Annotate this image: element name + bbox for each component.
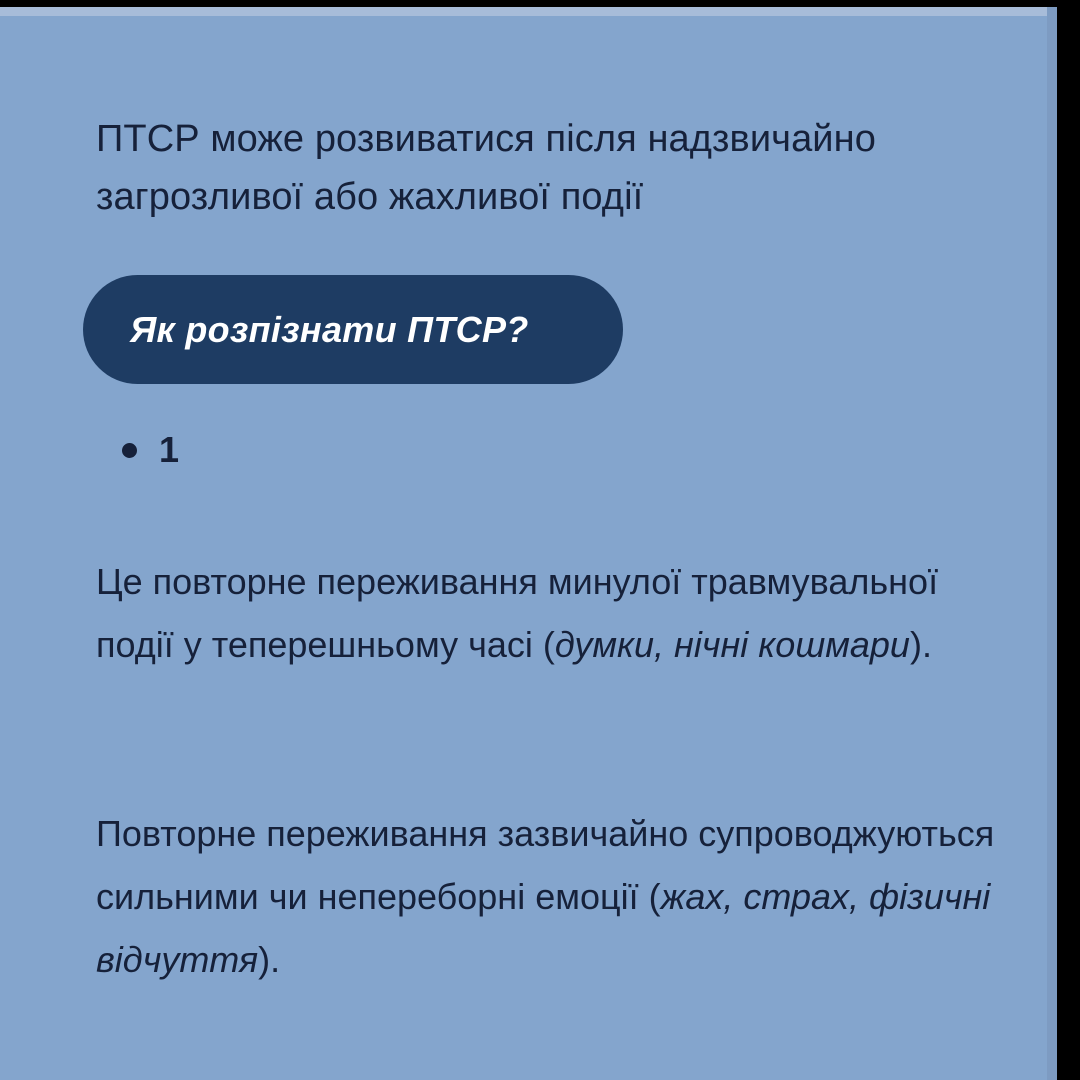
paragraph-1-tail: ). xyxy=(910,624,932,665)
top-letterbox-bar xyxy=(0,0,1080,7)
body-paragraph-2: Повторне переживання зазвичайно супровод… xyxy=(96,813,994,980)
right-scan-band xyxy=(1047,0,1057,1080)
body-paragraph-1: Це повторне переживання минулої травмува… xyxy=(96,561,938,665)
slide-content: ПТСР може розвиватися після надзвичайно … xyxy=(0,0,1047,1080)
list-item-number: 1 xyxy=(159,432,179,468)
body-copy: Це повторне переживання минулої травмува… xyxy=(96,487,996,991)
bullet-dot-icon xyxy=(122,443,137,458)
section-heading-pill[interactable]: Як розпізнати ПТСР? xyxy=(83,275,623,384)
right-letterbox-bar xyxy=(1057,0,1080,1080)
list-item: 1 xyxy=(122,432,179,468)
top-scan-band xyxy=(0,7,1080,16)
page-title: ПТСР може розвиватися після надзвичайно … xyxy=(96,110,976,226)
section-heading-label: Як розпізнати ПТСР? xyxy=(130,309,529,351)
slide-canvas: ПТСР може розвиватися після надзвичайно … xyxy=(0,0,1080,1080)
paragraph-2-tail: ). xyxy=(258,939,280,980)
paragraph-1-emphasis: думки, нічні кошмари xyxy=(555,624,910,665)
